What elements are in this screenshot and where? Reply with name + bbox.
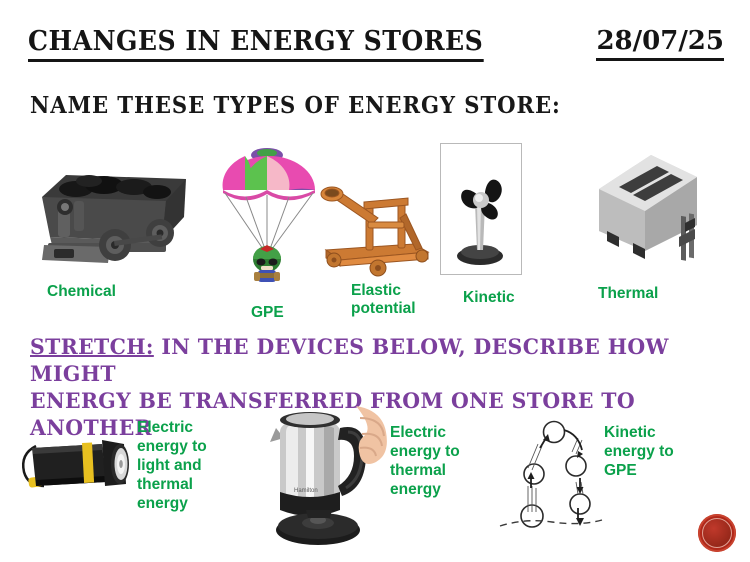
electric-fan-image [440,143,522,275]
page-title: CHANGES IN ENERGY STORES [28,26,483,62]
catapult-image [310,178,440,278]
energy-store-label-chemical: Chemical [47,283,116,301]
bouncing-ball-sketch-image [498,408,603,533]
flashlight-image [6,428,131,508]
lesson-date: 28/07/25 [596,26,724,61]
transfer-note-kettle: Electric energy to thermal energy [390,423,478,499]
energy-store-label-thermal: Thermal [598,285,658,303]
transfer-note-flashlight: Electric energy to light and thermal ene… [137,418,223,513]
svg-text:Hamilton: Hamilton [294,488,318,494]
energy-store-label-elastic-potential: Elastic potential [351,282,447,318]
electric-kettle-image: Hamilton [248,398,393,548]
energy-store-label-kinetic: Kinetic [463,289,515,307]
toaster-image [585,143,710,268]
stretch-line-1: STRETCH: IN THE DEVICES BELOW, DESCRIBE … [30,334,695,388]
task-instruction: NAME THESE TYPES OF ENERGY STORE: [30,92,561,119]
slide-canvas: CHANGES IN ENERGY STORES 28/07/25 NAME T… [0,0,750,562]
coal-mine-cart-image [14,145,194,270]
elastic-potential-text: Elastic potential [351,282,416,317]
transfer-note-ball: Kinetic energy to GPE [604,423,696,480]
parachutist-image [215,143,320,283]
record-button[interactable] [698,514,736,552]
stretch-keyword: STRETCH: [30,335,154,360]
energy-store-label-gpe: GPE [251,304,284,322]
